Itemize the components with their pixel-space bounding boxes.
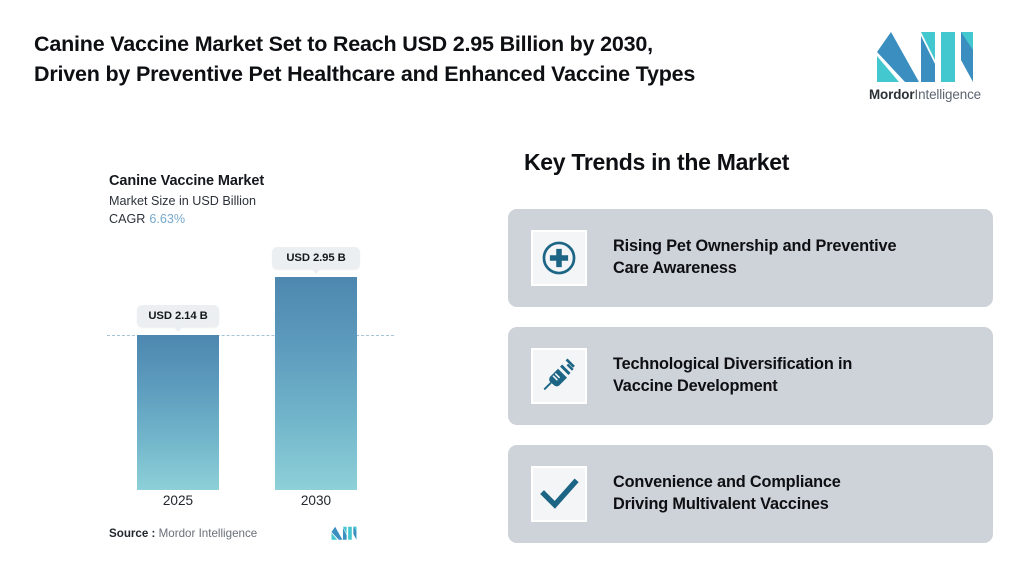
chart-source-label: Source :	[109, 527, 155, 540]
trend-card-3[interactable]: Convenience and Compliance Driving Multi…	[508, 445, 993, 543]
trend-card-3-line-2: Driving Multivalent Vaccines	[613, 494, 841, 516]
brand-logo-wordmark: MordorIntelligence	[866, 87, 984, 102]
trend-card-1-line-1: Rising Pet Ownership and Preventive	[613, 236, 896, 258]
trend-card-2-line-1: Technological Diversification in	[613, 354, 852, 376]
page-title: Canine Vaccine Market Set to Reach USD 2…	[34, 30, 834, 89]
trend-card-1-text: Rising Pet Ownership and Preventive Care…	[613, 236, 896, 279]
infographic-canvas: Canine Vaccine Market Set to Reach USD 2…	[0, 0, 1020, 570]
bar-value-label-2025: USD 2.14 B	[137, 305, 219, 327]
source-logo-icon	[331, 526, 357, 540]
chart-source-value: Mordor Intelligence	[159, 527, 258, 540]
trend-card-3-text: Convenience and Compliance Driving Multi…	[613, 472, 841, 515]
brand-logo: MordorIntelligence	[866, 30, 984, 102]
x-axis-label-2025: 2025	[137, 493, 219, 508]
trend-card-1[interactable]: Rising Pet Ownership and Preventive Care…	[508, 209, 993, 307]
page-title-line-2: Driven by Preventive Pet Healthcare and …	[34, 60, 834, 90]
chart-cagr-label: CAGR	[109, 212, 145, 226]
trend-card-2[interactable]: Technological Diversification in Vaccine…	[508, 327, 993, 425]
x-axis-label-2030: 2030	[275, 493, 357, 508]
trend-card-2-text: Technological Diversification in Vaccine…	[613, 354, 852, 397]
chart-source: Source : Mordor Intelligence	[109, 527, 257, 540]
checkmark-icon	[531, 466, 587, 522]
chart-subtitle: Market Size in USD Billion	[109, 194, 256, 208]
chart-title: Canine Vaccine Market	[109, 173, 264, 189]
key-trends-heading: Key Trends in the Market	[524, 149, 789, 176]
bar-2030[interactable]	[275, 277, 357, 490]
trend-card-3-line-1: Convenience and Compliance	[613, 472, 841, 494]
brand-logo-wordmark-light: Intelligence	[914, 87, 981, 102]
mordor-intelligence-logo-icon	[875, 30, 975, 82]
chart-cagr: CAGR6.63%	[109, 212, 185, 226]
bar-chart-plot-area: USD 2.14 B 2025 USD 2.95 B 2030	[100, 250, 400, 495]
trend-card-2-line-2: Vaccine Development	[613, 376, 852, 398]
brand-logo-wordmark-bold: Mordor	[869, 87, 915, 102]
chart-cagr-value: 6.63%	[149, 212, 185, 226]
syringe-icon	[531, 348, 587, 404]
medical-cross-circle-icon	[531, 230, 587, 286]
bar-value-label-2030: USD 2.95 B	[272, 247, 360, 269]
page-title-line-1: Canine Vaccine Market Set to Reach USD 2…	[34, 30, 834, 60]
bar-2025[interactable]	[137, 335, 219, 490]
trend-card-1-line-2: Care Awareness	[613, 258, 896, 280]
